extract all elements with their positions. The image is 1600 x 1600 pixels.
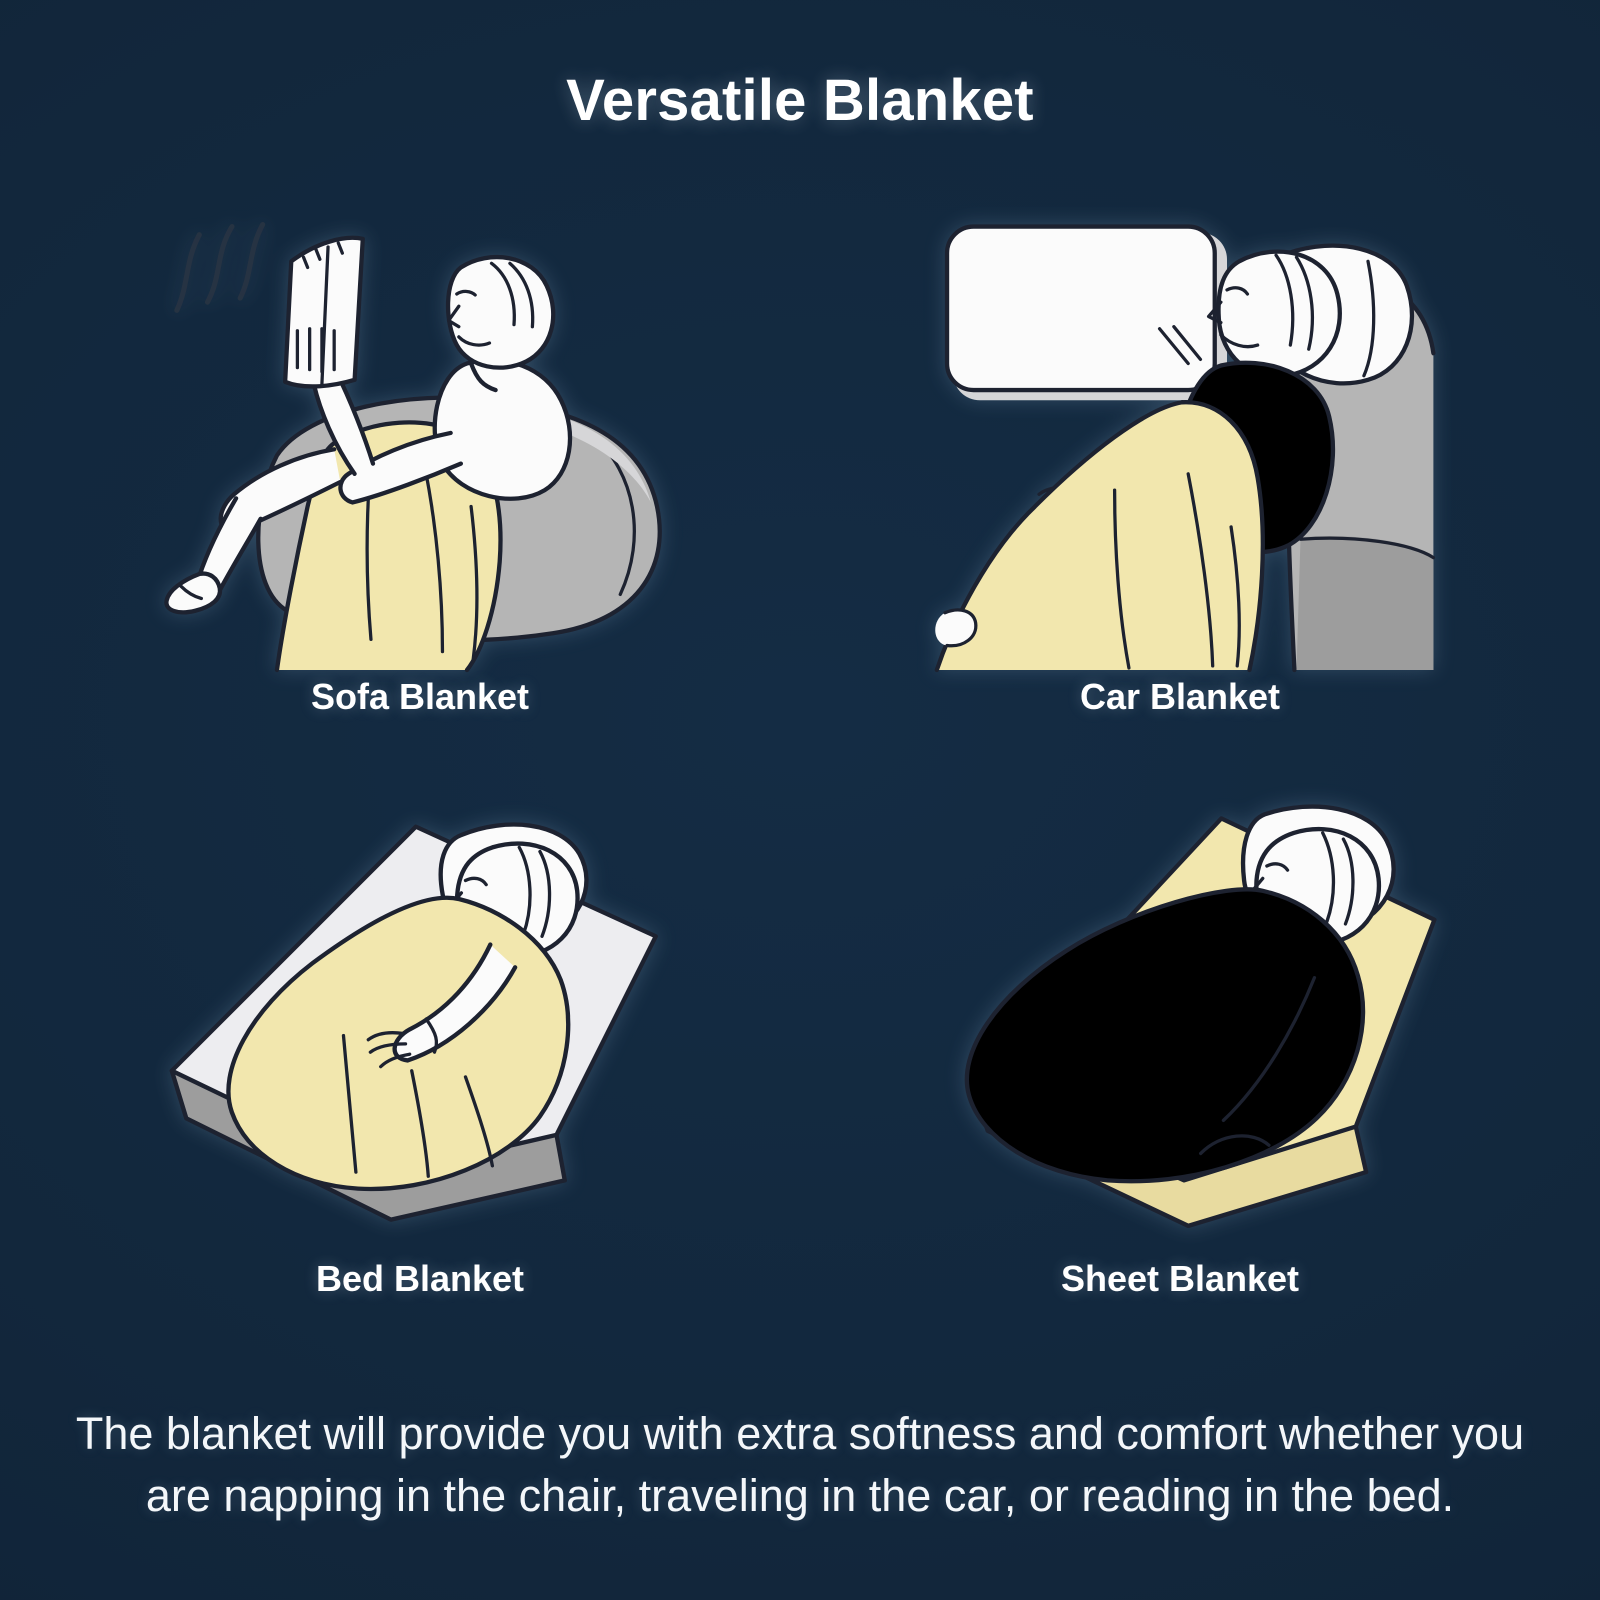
title-bar: Versatile Blanket xyxy=(0,0,1600,200)
panel-label-bed: Bed Blanket xyxy=(316,1258,524,1300)
car-blanket-illustration xyxy=(800,200,1560,670)
yellow-blanket-car xyxy=(937,402,1263,670)
sofa-blanket-illustration xyxy=(40,200,800,670)
panel-car: Car Blanket xyxy=(800,200,1560,775)
panel-grid: Sofa Blanket xyxy=(0,200,1600,1350)
steam-marks xyxy=(177,225,263,311)
bed-blanket-illustration xyxy=(40,775,800,1230)
car-window xyxy=(947,227,1227,401)
sheet-blanket-illustration xyxy=(800,775,1560,1230)
page-title: Versatile Blanket xyxy=(566,67,1034,134)
person-head-car xyxy=(1209,252,1340,377)
panel-label-sheet: Sheet Blanket xyxy=(1061,1258,1299,1300)
panel-label-sofa: Sofa Blanket xyxy=(311,676,529,718)
panel-bed: Bed Blanket xyxy=(40,775,800,1350)
panel-sofa: Sofa Blanket xyxy=(40,200,800,775)
caption-area: The blanket will provide you with extra … xyxy=(0,1350,1600,1600)
open-book xyxy=(285,238,363,387)
panel-label-car: Car Blanket xyxy=(1080,676,1280,718)
product-description: The blanket will provide you with extra … xyxy=(70,1403,1530,1527)
panel-sheet: Sheet Blanket xyxy=(800,775,1560,1350)
infographic-root: Versatile Blanket xyxy=(0,0,1600,1600)
